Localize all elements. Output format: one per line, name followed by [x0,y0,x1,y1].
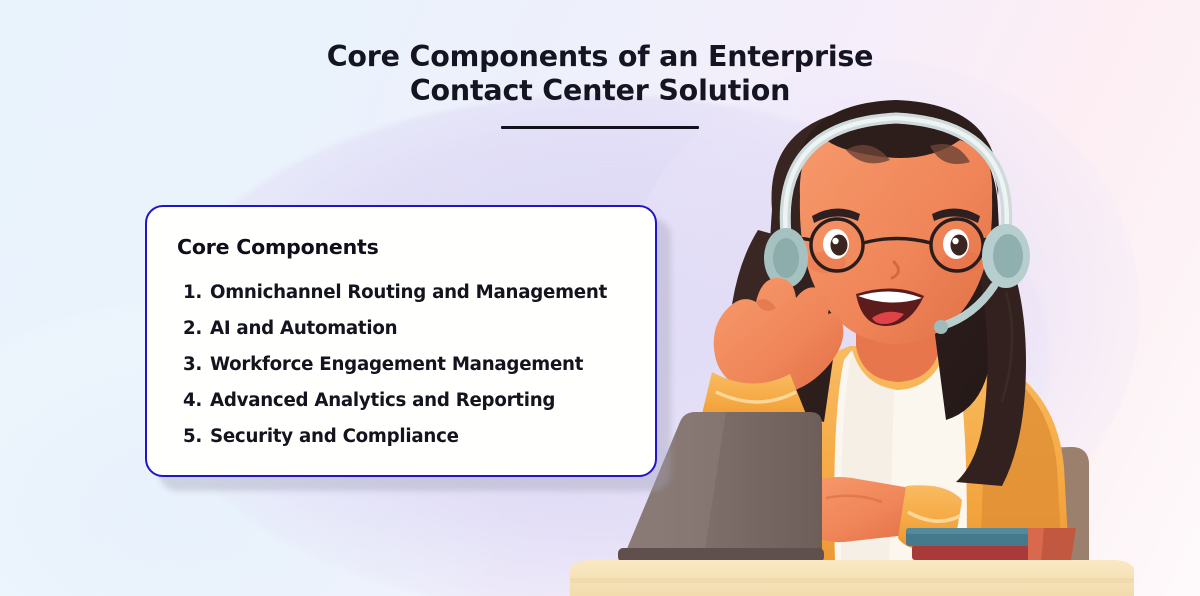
list-item-number: 1. [183,275,210,311]
poster-canvas: Core Components of an Enterprise Contact… [0,0,1200,596]
card-heading: Core Components [177,235,629,259]
list-item-number: 4. [183,383,210,419]
list-item: 4.Advanced Analytics and Reporting [183,383,629,419]
card-body: Core Components 1.Omnichannel Routing an… [145,205,657,477]
list-item-number: 2. [183,311,210,347]
list-item-label: Omnichannel Routing and Management [210,275,607,311]
core-components-list: 1.Omnichannel Routing and Management2.AI… [177,275,629,455]
list-item-label: Security and Compliance [210,419,459,455]
list-item: 5.Security and Compliance [183,419,629,455]
list-item: 3.Workforce Engagement Management [183,347,629,383]
title-line-1: Core Components of an Enterprise [0,40,1200,74]
list-item-number: 5. [183,419,210,455]
title-underline [501,126,699,129]
list-item-label: AI and Automation [210,311,397,347]
book-stack [906,528,1040,560]
list-item-number: 3. [183,347,210,383]
list-item: 1.Omnichannel Routing and Management [183,275,629,311]
list-item: 2.AI and Automation [183,311,629,347]
title-line-2: Contact Center Solution [0,74,1200,108]
core-components-card: Core Components 1.Omnichannel Routing an… [145,205,657,477]
list-item-label: Workforce Engagement Management [210,347,583,383]
desk [570,560,1134,596]
page-title: Core Components of an Enterprise Contact… [0,40,1200,129]
list-item-label: Advanced Analytics and Reporting [210,383,555,419]
